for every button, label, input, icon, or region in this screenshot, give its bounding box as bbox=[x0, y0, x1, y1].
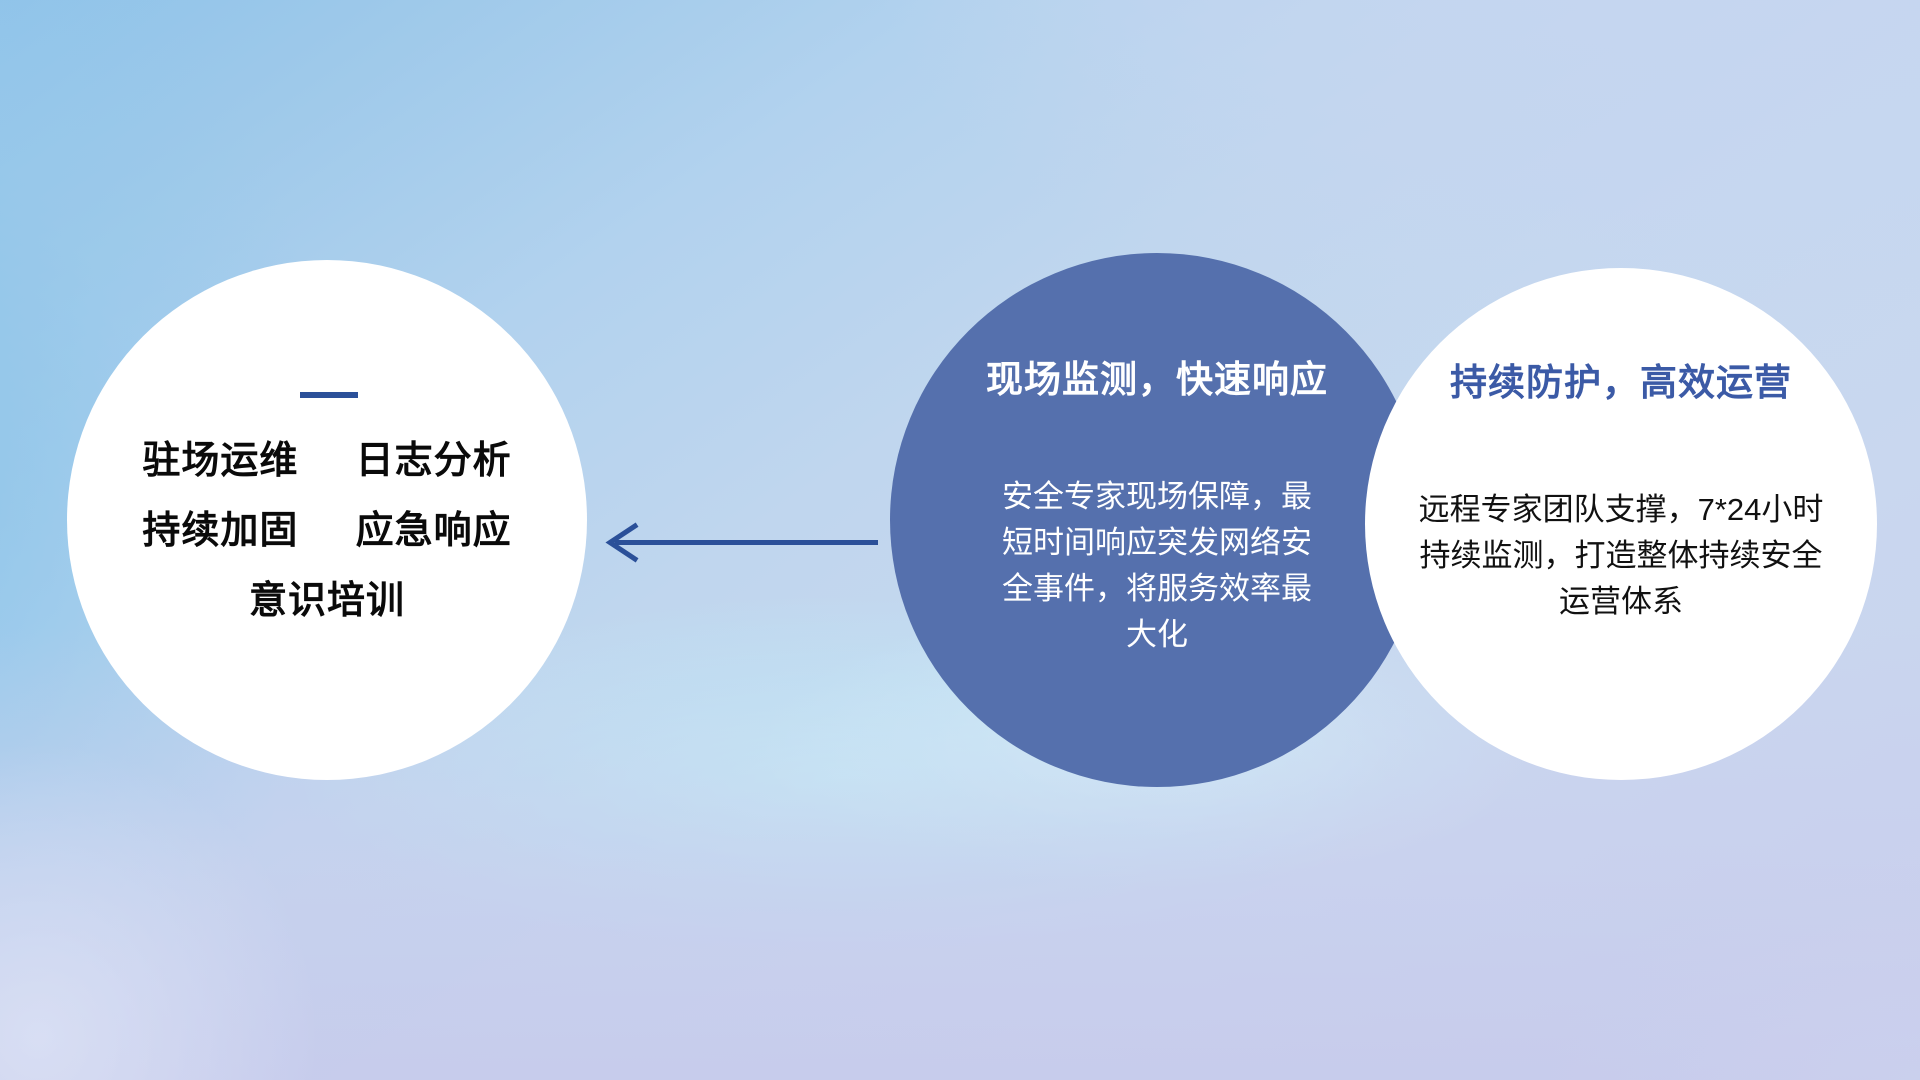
capability-row: 驻场运维 日志分析 bbox=[142, 442, 511, 480]
capability-circle[interactable]: 驻场运维 日志分析 持续加固 应急响应 意识培训 bbox=[67, 260, 587, 780]
capability-circle-content: 驻场运维 日志分析 持续加固 应急响应 意识培训 bbox=[67, 392, 587, 620]
capability-tag: 应急响应 bbox=[356, 510, 512, 552]
capability-tag: 意识培训 bbox=[249, 580, 405, 622]
left-pointing-arrow bbox=[595, 512, 880, 572]
continuous-protection-heading: 持续防护，高效运营 bbox=[1450, 364, 1792, 401]
onsite-monitoring-content: 现场监测，快速响应 安全专家现场保障，最短时间响应突发网络安全事件，将服务效率最… bbox=[890, 361, 1424, 658]
divider-line bbox=[300, 392, 358, 398]
slide-canvas: 驻场运维 日志分析 持续加固 应急响应 意识培训 现场监测，快速响应 安全专家现… bbox=[0, 0, 1920, 1080]
capability-tag: 日志分析 bbox=[356, 440, 512, 482]
capability-row: 持续加固 应急响应 bbox=[142, 512, 511, 550]
capability-row: 意识培训 bbox=[249, 582, 405, 620]
continuous-protection-body: 远程专家团队支撑，7*24小时持续监测，打造整体持续安全运营体系 bbox=[1412, 487, 1830, 625]
onsite-monitoring-body: 安全专家现场保障，最短时间响应突发网络安全事件，将服务效率最大化 bbox=[1002, 474, 1312, 658]
onsite-monitoring-heading: 现场监测，快速响应 bbox=[986, 361, 1328, 398]
capability-tag: 持续加固 bbox=[142, 510, 298, 552]
continuous-protection-circle[interactable]: 持续防护，高效运营 远程专家团队支撑，7*24小时持续监测，打造整体持续安全运营… bbox=[1365, 268, 1877, 780]
capability-tag: 驻场运维 bbox=[142, 440, 298, 482]
continuous-protection-content: 持续防护，高效运营 远程专家团队支撑，7*24小时持续监测，打造整体持续安全运营… bbox=[1365, 364, 1877, 625]
onsite-monitoring-circle[interactable]: 现场监测，快速响应 安全专家现场保障，最短时间响应突发网络安全事件，将服务效率最… bbox=[890, 253, 1424, 787]
